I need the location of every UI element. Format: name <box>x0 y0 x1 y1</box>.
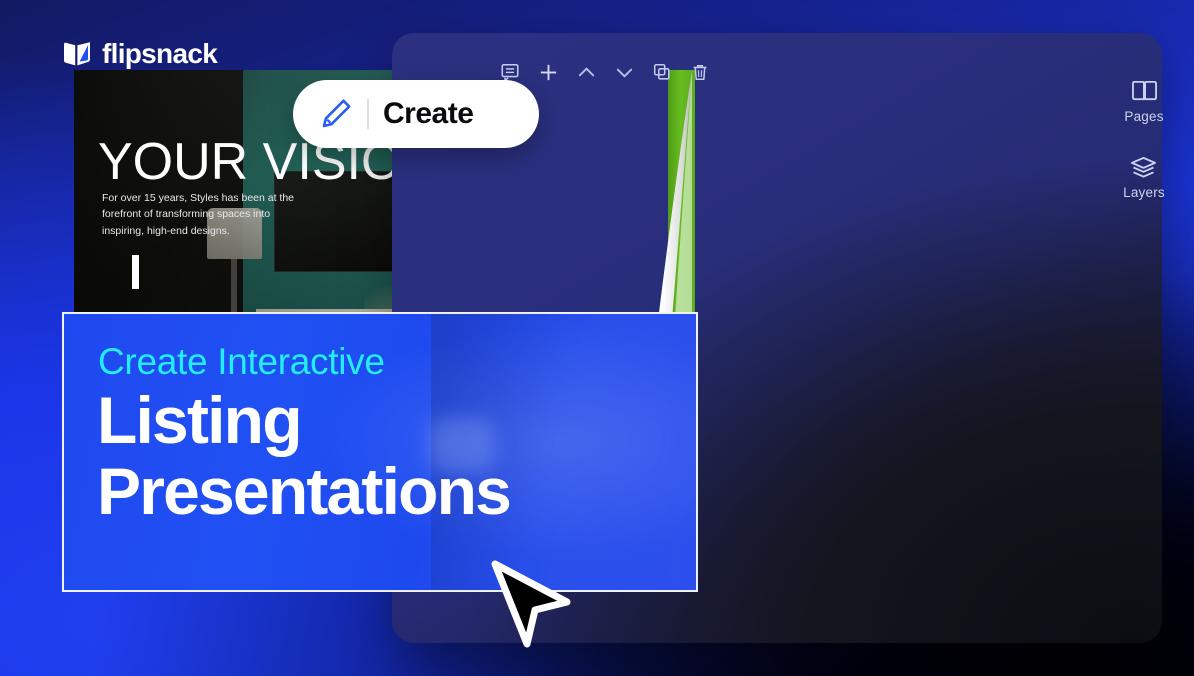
promo-eyebrow: Create Interactive <box>98 341 385 383</box>
brand-wordmark: flipsnack <box>102 38 217 70</box>
text-cursor-caret <box>132 255 139 289</box>
rail-label-layers: Layers <box>1123 185 1165 200</box>
create-button[interactable]: Create <box>293 80 539 148</box>
trash-icon[interactable] <box>688 60 712 84</box>
open-book-icon <box>62 41 93 68</box>
rail-item-layers[interactable]: Layers <box>1123 154 1165 200</box>
duplicate-icon[interactable] <box>650 60 674 84</box>
rail-item-pages[interactable]: Pages <box>1124 78 1163 124</box>
chevron-down-icon[interactable] <box>612 60 636 84</box>
promo-headline-line-2: Presentations <box>97 458 510 524</box>
arrow-cursor-icon <box>487 558 579 650</box>
open-book-icon <box>1129 78 1159 104</box>
divider <box>367 99 369 129</box>
slide-toolbar <box>498 60 712 84</box>
chevron-up-icon[interactable] <box>574 60 598 84</box>
editor-side-rail: Pages Layers <box>1108 78 1180 200</box>
flipsnack-logo[interactable]: flipsnack <box>62 38 217 70</box>
promo-callout-box: Create Interactive Listing Presentations <box>62 312 698 592</box>
plus-icon[interactable] <box>536 60 560 84</box>
promo-headline-line-1: Listing <box>97 387 301 453</box>
create-button-label: Create <box>383 97 473 131</box>
layers-icon <box>1129 154 1159 180</box>
rail-label-pages: Pages <box>1124 109 1163 124</box>
pencil-icon <box>319 97 353 131</box>
slide-body-text: For over 15 years, Styles has been at th… <box>102 190 312 239</box>
